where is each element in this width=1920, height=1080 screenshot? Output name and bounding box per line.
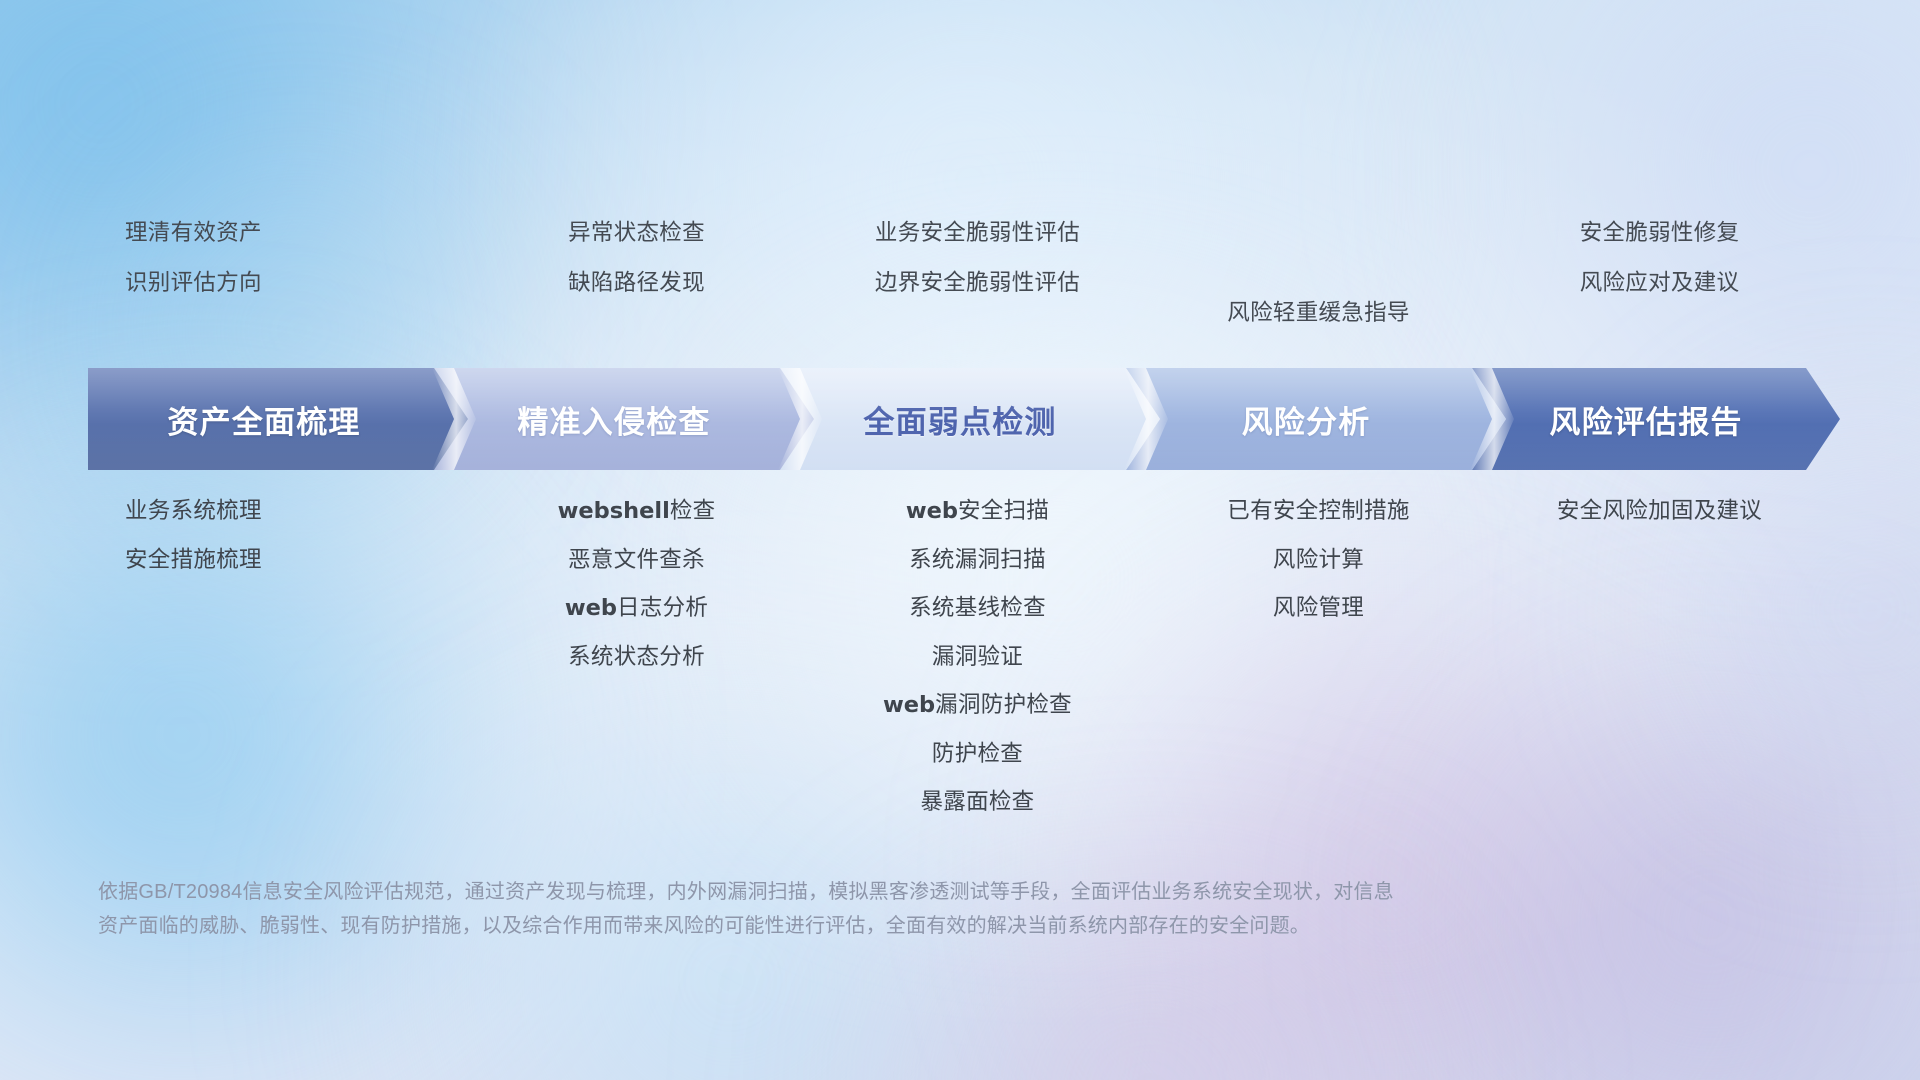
- chevron-label-weakness-detection: 全面弱点检测: [780, 397, 1160, 442]
- chevron-stage-asset-inventory[interactable]: 资产全面梳理: [88, 368, 468, 470]
- chevron-label-intrusion-check: 精准入侵检查: [434, 397, 814, 442]
- stage-below-item: 风险管理: [1273, 597, 1364, 620]
- stage-above-item: 风险轻重缓急指导: [1227, 302, 1409, 325]
- stage-below-item: web漏洞防护检查: [883, 694, 1072, 717]
- lower-column-asset-inventory: 业务系统梳理安全措施梳理: [95, 500, 466, 830]
- chevron-stage-intrusion-check[interactable]: 精准入侵检查: [434, 368, 814, 470]
- footer-description: 依据GB/T20984信息安全风险评估规范，通过资产发现与梳理，内外网漏洞扫描，…: [98, 875, 1658, 943]
- lower-column-intrusion-check: webshell检查恶意文件查杀web日志分析系统状态分析: [466, 500, 807, 830]
- stage-chevron-banner: 风险评估报告风险分析全面弱点检测精准入侵检查资产全面梳理: [88, 368, 1840, 470]
- stage-below-item: 风险计算: [1273, 549, 1364, 572]
- stage-upper-descriptors: 理清有效资产识别评估方向 异常状态检查缺陷路径发现 业务安全脆弱性评估边界安全脆…: [95, 222, 1830, 332]
- stage-lower-details: 业务系统梳理安全措施梳理 webshell检查恶意文件查杀web日志分析系统状态…: [95, 500, 1830, 830]
- chevron-label-risk-analysis: 风险分析: [1126, 397, 1506, 442]
- stage-below-item: 业务系统梳理: [125, 500, 262, 523]
- chevron-stage-risk-report[interactable]: 风险评估报告: [1472, 368, 1840, 470]
- stage-above-item: 识别评估方向: [125, 272, 262, 295]
- chevron-label-risk-report: 风险评估报告: [1472, 397, 1840, 442]
- stage-below-item: web日志分析: [565, 597, 708, 620]
- stage-above-item: 边界安全脆弱性评估: [875, 272, 1080, 295]
- chevron-stage-weakness-detection[interactable]: 全面弱点检测: [780, 368, 1160, 470]
- stage-below-item: web安全扫描: [906, 500, 1049, 523]
- stage-below-item: 安全风险加固及建议: [1557, 500, 1762, 523]
- upper-column-risk-analysis: 风险轻重缓急指导: [1148, 222, 1489, 332]
- stage-below-item: 系统基线检查: [909, 597, 1046, 620]
- stage-above-item: 理清有效资产: [125, 222, 262, 245]
- stage-below-item: 恶意文件查杀: [568, 549, 705, 572]
- stage-above-item: 风险应对及建议: [1580, 272, 1740, 295]
- stage-above-item: 业务安全脆弱性评估: [875, 222, 1080, 245]
- chevron-stage-risk-analysis[interactable]: 风险分析: [1126, 368, 1506, 470]
- stage-below-item: 系统漏洞扫描: [909, 549, 1046, 572]
- upper-column-asset-inventory: 理清有效资产识别评估方向: [95, 222, 466, 332]
- stage-below-item: 已有安全控制措施: [1227, 500, 1409, 523]
- footer-line-1: 依据GB/T20984信息安全风险评估规范，通过资产发现与梳理，内外网漏洞扫描，…: [98, 875, 1658, 909]
- stage-below-item: 防护检查: [932, 743, 1023, 766]
- stage-below-item: 安全措施梳理: [125, 549, 262, 572]
- lower-column-risk-report: 安全风险加固及建议: [1489, 500, 1830, 830]
- stage-below-item: 漏洞验证: [932, 646, 1023, 669]
- stage-above-item: 缺陷路径发现: [568, 272, 705, 295]
- lower-column-risk-analysis: 已有安全控制措施风险计算风险管理: [1148, 500, 1489, 830]
- footer-line-2: 资产面临的威胁、脆弱性、现有防护措施，以及综合作用而带来风险的可能性进行评估，全…: [98, 909, 1658, 943]
- stage-above-item: 异常状态检查: [568, 222, 705, 245]
- lower-column-weakness-detection: web安全扫描系统漏洞扫描系统基线检查漏洞验证web漏洞防护检查防护检查暴露面检…: [807, 500, 1148, 830]
- upper-column-weakness-detection: 业务安全脆弱性评估边界安全脆弱性评估: [807, 222, 1148, 332]
- stage-below-item: webshell检查: [558, 500, 716, 523]
- stage-above-item: 安全脆弱性修复: [1580, 222, 1740, 245]
- upper-column-intrusion-check: 异常状态检查缺陷路径发现: [466, 222, 807, 332]
- stage-below-item: 系统状态分析: [568, 646, 705, 669]
- chevron-label-asset-inventory: 资产全面梳理: [88, 397, 468, 442]
- upper-column-risk-report: 安全脆弱性修复风险应对及建议: [1489, 222, 1830, 332]
- stage-below-item: 暴露面检查: [920, 791, 1034, 814]
- process-diagram: 理清有效资产识别评估方向 异常状态检查缺陷路径发现 业务安全脆弱性评估边界安全脆…: [0, 0, 1920, 1080]
